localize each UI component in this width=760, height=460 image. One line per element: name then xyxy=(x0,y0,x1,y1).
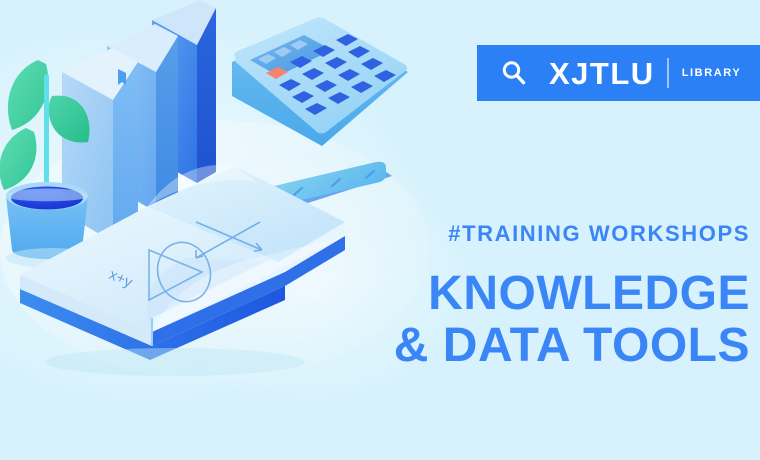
headline-line-2: & DATA TOOLS xyxy=(310,320,750,372)
leaf-lower-left xyxy=(0,128,36,190)
brand-name: XJTLU xyxy=(549,58,655,89)
banner-root: x+y XJTLU LIBRARY #TRAINI xyxy=(0,0,760,460)
headline-line-1: KNOWLEDGE xyxy=(310,268,750,320)
headline-block: #TRAINING WORKSHOPS KNOWLEDGE & DATA TOO… xyxy=(310,222,750,372)
sub-brand-label: LIBRARY xyxy=(682,68,742,79)
eyebrow-text: #TRAINING WORKSHOPS xyxy=(310,222,750,246)
logo-divider xyxy=(667,58,669,88)
logo-bar[interactable]: XJTLU LIBRARY xyxy=(477,45,760,101)
leaf-upper-left xyxy=(8,60,48,130)
search-icon xyxy=(501,60,527,86)
